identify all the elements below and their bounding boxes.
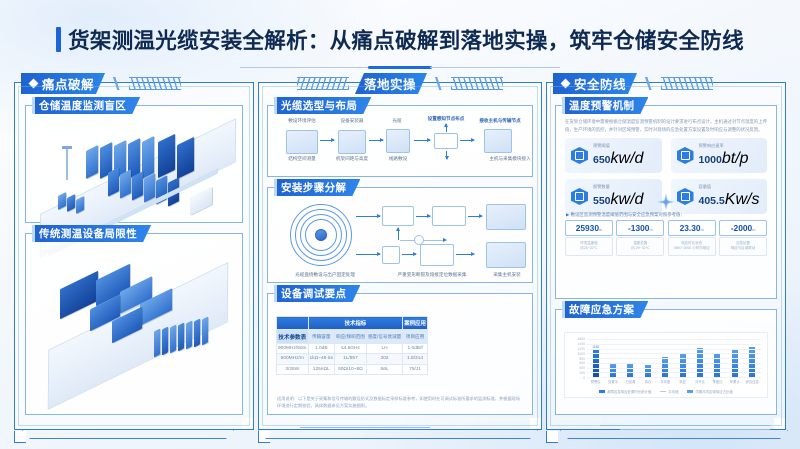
chart-gridline: 1600	[587, 339, 761, 340]
flow-caption: 机架间距与高度	[326, 156, 378, 162]
table-cell: 1.0dB	[308, 343, 334, 353]
chart-x-tick: 季度比	[712, 379, 722, 384]
column-safety-line: 安全防线 温度预警机制 在货架仓储环境中需要根据仓储温度监测预警机制的设计要求进…	[546, 82, 786, 430]
page-title-area: 货架测温光缆安装全解析：从痛点破解到落地实操，筑牢仓储安全防线	[0, 22, 800, 70]
stat-sub-line: 0800~2000 小时内响应	[670, 246, 714, 251]
stat-value: 25930	[576, 223, 599, 233]
table-group-header	[277, 317, 309, 330]
chart-bar[interactable]	[714, 353, 720, 377]
stat-box: -1300m	[616, 220, 664, 236]
stat-sub-box: 温差范围 约-29~32℃	[616, 237, 664, 256]
stat-unit: m	[701, 228, 704, 232]
flow-node	[286, 130, 318, 154]
illustration-warehouse-racks	[34, 118, 234, 216]
kpi-value: 405.5	[699, 195, 725, 207]
table-cell: 3/26W	[277, 364, 309, 374]
table-note: 适用说明：以下是关于采集和信号传输的敷设形式及数据标定采样标准参考，如使用时在可…	[277, 396, 523, 409]
grid-icon	[677, 188, 694, 205]
columns-container: 痛点破解 仓储温度监测盲区	[0, 82, 800, 434]
column-header-label: 落地实操	[364, 74, 416, 93]
kpi-unit: bt/p	[722, 150, 749, 167]
table-cell: 500MHz/m	[277, 354, 309, 364]
table-col-header: 响应/频响范围	[334, 330, 366, 343]
chart-y-tick: 0	[583, 376, 585, 380]
card-legacy-limits[interactable]: 传统测温设备局限性	[25, 233, 243, 415]
flow-caption: 敷设环境评估	[280, 118, 324, 124]
chart-gridline: 400	[587, 368, 761, 369]
flow-node	[386, 129, 410, 153]
diamond-icon	[561, 79, 571, 89]
table-cell: 125nΩL	[308, 364, 334, 374]
chart-x-tick: 恢复	[679, 379, 686, 384]
stat-box: 23.30m	[668, 220, 716, 236]
chart-y-tick: 400	[579, 366, 585, 370]
kpi-label: 预警阈值	[593, 143, 643, 149]
card-title-cable-selection: 光缆选型与布局	[274, 97, 371, 114]
stats-lead-text: 敷设区监测预警温度阈值范围与安全应急预案对照参考值：	[571, 212, 685, 217]
title-divider	[0, 66, 800, 70]
table-row: 500MHz/m 1kΩ~48·5s 1L/857 302 1.8/314	[277, 354, 428, 364]
table-cell: 56L	[366, 364, 402, 374]
chart-y-tick: 1200	[577, 347, 585, 351]
stat-sub-box: 环境温度值 约25~32℃	[565, 237, 613, 256]
flow-node	[338, 130, 366, 154]
stat-unit: m	[752, 228, 755, 232]
card-blind-zone[interactable]: 仓储温度监测盲区	[25, 105, 243, 223]
chart-x-tick: 综合应急	[746, 379, 759, 384]
hatch-decor-icon	[297, 77, 349, 90]
card-title-install-steps: 安装步骤分解	[274, 179, 360, 196]
table-col-header: 传输容量	[308, 330, 334, 343]
kpi-unit: kw/d	[611, 150, 644, 167]
table-cell: 1kΩ~48·5s	[308, 354, 334, 364]
table-cell: LH	[366, 343, 402, 353]
card-title-commissioning: 设备调试要点	[274, 285, 360, 302]
table-row: 3/26W 125nΩL 50Ω/10~8Ω 56L 75/J1	[277, 364, 428, 374]
title-accent-bar	[56, 27, 61, 52]
chart-legend-swatch	[687, 390, 693, 393]
flow-node	[434, 133, 458, 149]
chart-gridline: 1000	[587, 353, 761, 354]
table-cell: 75/J1	[403, 364, 428, 374]
card-temp-warning[interactable]: 温度预警机制 在货架仓储环境中需要根据仓储温度监测预警机制的设计要求进行布点设计…	[555, 105, 777, 299]
chart-icon	[677, 147, 694, 164]
chart-bar[interactable]	[627, 363, 633, 377]
stat-box: 25930m	[565, 220, 613, 236]
flow-caption: 光缆	[382, 118, 412, 124]
card-title-blind-zone: 仓储温度监测盲区	[32, 97, 140, 114]
column-header-implementation: 落地实操	[297, 73, 503, 94]
chart-y-tick: 1400	[577, 342, 585, 346]
kpi-value: 550	[593, 195, 611, 207]
stat-value: 23.30	[680, 223, 701, 233]
stats-lead: ▶ 敷设区监测预警温度阈值范围与安全应急预案对照参考值：	[566, 212, 685, 218]
chart-bar[interactable]	[645, 365, 651, 377]
spec-table: 技术指标 案例应用 技术参数表 传输容量 响应/频响范围 感度/信号衰减量 项目…	[276, 316, 428, 375]
kpi-label: 报警数量	[593, 184, 643, 190]
chart-x-tick: 预警区	[591, 379, 601, 384]
chart-y-tick: 600	[579, 361, 585, 365]
stat-value: -2000	[731, 223, 752, 233]
flow-caption: 设置感知节点布点	[422, 116, 470, 122]
stat-unit: m	[649, 228, 652, 232]
kpi-card[interactable]: 报警数量 550kw/d	[565, 179, 662, 214]
receiver-unit	[486, 242, 526, 268]
flow-caption: 结构空间测量	[278, 156, 326, 162]
slash-decor-icon	[431, 77, 445, 90]
chart-legend: 故障应急响应处置时长统计值平均值同期月同区域响应占比值	[565, 389, 767, 394]
stat-sub-line: 约-29~32℃	[618, 246, 662, 251]
chart-y-tick: 200	[579, 371, 585, 375]
step-box	[432, 206, 466, 226]
flow-caption: 设备安装器	[330, 118, 374, 124]
table-group-header: 技术指标	[308, 317, 403, 330]
receiver-unit	[486, 204, 526, 230]
kpi-card[interactable]: 容量值 405.5Kw/s	[671, 179, 768, 214]
chart-gridline: 0	[587, 377, 761, 378]
kpi-unit: Kw/s	[725, 191, 760, 208]
diamond-icon	[29, 79, 39, 89]
kpi-label: 预警响应速率	[699, 143, 749, 149]
stat-value: -1300	[628, 223, 649, 233]
flow-caption: 线路敷设	[378, 156, 418, 162]
flow-caption: 主机与采集模块接入	[480, 156, 540, 162]
table-row: 900MHz/50m 1.0dB ≤4.5GHz LH 1.0dB/f	[277, 343, 428, 353]
chart-plot-area: 1150预警区处置中已处置待办平均值恢复月环比季度比年累计综合应急 160014…	[587, 339, 761, 377]
chart-legend-item: 故障应急响应处置时长统计值	[599, 389, 651, 394]
card-install-steps[interactable]: 安装步骤分解 光缆盘绕敷设与出户固定处理	[267, 187, 533, 283]
emergency-bar-chart: 1150预警区处置中已处置待办平均值恢复月环比季度比年累计综合应急 160014…	[564, 332, 768, 398]
bottom-decoration	[0, 421, 800, 449]
table-cell: 1.8/314	[403, 354, 428, 364]
right-caption: 采集主机安装	[482, 272, 532, 278]
table-cell: 50Ω/10~8Ω	[334, 364, 366, 374]
chart-x-tick: 月环比	[695, 379, 705, 384]
table-cell: ≤4.5GHz	[334, 343, 366, 353]
chart-legend-item: 同期月同区域响应占比值	[687, 389, 732, 394]
stats-sub-row: 环境温度值 约25~32℃ 温差范围 约-29~32℃ 响应时长状态 0800~…	[565, 237, 767, 256]
flow-node	[484, 129, 512, 153]
stat-sub-line: 响应与区域联动	[721, 246, 765, 251]
chart-x-tick: 处置中	[608, 379, 618, 384]
card-emergency-plan[interactable]: 故障应急方案 1150预警区处置中已处置待办平均值恢复月环比季度比年累计综合应急…	[555, 309, 777, 415]
table-col-header: 技术参数表	[277, 330, 309, 343]
stat-sub-box: 响应时长状态 0800~2000 小时内响应	[668, 237, 716, 256]
warning-paragraph: 在货架仓储环境中需要根据仓储温度监测预警机制的设计要求进行布点设计。主机通过对节…	[565, 118, 767, 133]
chart-y-tick: 1600	[577, 337, 585, 341]
hatch-decor-icon	[661, 77, 713, 90]
illustration-legacy-equipment	[34, 246, 234, 408]
column-header-label: 痛点破解	[42, 74, 94, 93]
table-cell: 900MHz/50m	[277, 343, 309, 353]
stat-sub-box: 应急处置 响应与区域联动	[719, 237, 767, 256]
column-header-safety-line: 安全防线	[553, 73, 713, 94]
table-cell: 302	[366, 354, 402, 364]
kpi-card[interactable]: 预警阈值 650kw/d	[565, 138, 662, 173]
chart-x-tick: 待办	[645, 379, 652, 384]
table-col-header: 感度/信号衰减量	[366, 330, 402, 343]
column-pain-points: 痛点破解 仓储温度监测盲区	[14, 82, 254, 430]
step-box	[382, 206, 414, 226]
slash-decor-icon	[641, 77, 655, 90]
chart-legend-swatch	[599, 390, 605, 393]
chart-y-tick: 800	[579, 357, 585, 361]
hatch-decor-icon	[451, 77, 503, 90]
user-icon	[571, 188, 588, 205]
monitor-icon	[571, 147, 588, 164]
diagram-install-steps: 光缆盘绕敷设与出户固定处理 严重变形断裂及熔接定位数据采集 采集主机安装	[274, 202, 526, 278]
card-title-temp-warning: 温度预警机制	[562, 97, 648, 114]
stat-box: -2000m	[719, 220, 767, 236]
chart-x-tick: 已处置	[626, 379, 636, 384]
column-implementation: 落地实操 光缆选型与布局 敷设环境评估 结构空间测量 设备安装器 机架间距与高度…	[258, 82, 542, 430]
flow-caption: 接收主机与传输节点	[472, 118, 528, 124]
kpi-value: 650	[593, 154, 611, 166]
stat-unit: m	[599, 228, 602, 232]
mid-caption: 严重变形断裂及熔接定位数据采集	[384, 272, 480, 278]
chart-gridline: 800	[587, 358, 761, 359]
step-box	[420, 244, 454, 266]
table-group-header: 案例应用	[403, 317, 428, 330]
card-title-legacy-limits: 传统测温设备局限性	[32, 225, 151, 242]
stats-row: 25930m -1300m 23.30m -2000m	[565, 220, 767, 236]
table-cell: 1L/857	[334, 354, 366, 364]
chart-legend-item: 平均值	[660, 389, 678, 394]
card-commissioning[interactable]: 设备调试要点 技术指标 案例应用 技术参数表 传输容量 响应/频响范围 感度/信…	[267, 293, 533, 415]
chart-gridline: 600	[587, 363, 761, 364]
card-cable-selection[interactable]: 光缆选型与布局 敷设环境评估 结构空间测量 设备安装器 机架间距与高度 光缆 线…	[267, 105, 533, 177]
diagram-cable-flow: 敷设环境评估 结构空间测量 设备安装器 机架间距与高度 光缆 线路敷设 设置感知…	[274, 120, 526, 172]
step-box	[382, 246, 400, 264]
kpi-label: 容量值	[699, 184, 760, 190]
kpi-card[interactable]: 预警响应速率 1000bt/p	[671, 138, 768, 173]
card-title-emergency-plan: 故障应急方案	[562, 301, 648, 318]
kpi-unit: kw/d	[611, 191, 644, 208]
column-header-label: 安全防线	[574, 74, 626, 93]
chart-gridline: 200	[587, 372, 761, 373]
page-title: 货架测温光缆安装全解析：从痛点破解到落地实操，筑牢仓储安全防线	[68, 24, 744, 55]
chart-gridline: 1400	[587, 344, 761, 345]
table-col-header: 项目应用	[403, 330, 428, 343]
table-cell: 1.0dB/f	[403, 343, 428, 353]
coil-center-icon	[315, 229, 327, 241]
chart-x-tick: 年累计	[730, 379, 740, 384]
chart-gridline: 1200	[587, 349, 761, 350]
chart-bar[interactable]	[610, 364, 616, 377]
chart-legend-swatch	[660, 391, 666, 392]
stat-sub-line: 约25~32℃	[567, 246, 611, 251]
coil-caption: 光缆盘绕敷设与出户固定处理	[278, 272, 372, 278]
chart-x-tick: 平均值	[660, 379, 670, 384]
hatch-decor-icon	[129, 77, 181, 90]
kpi-value: 1000	[699, 154, 722, 166]
slash-decor-icon	[109, 77, 123, 90]
column-header-pain-points: 痛点破解	[21, 73, 181, 94]
chart-y-tick: 1000	[577, 352, 585, 356]
